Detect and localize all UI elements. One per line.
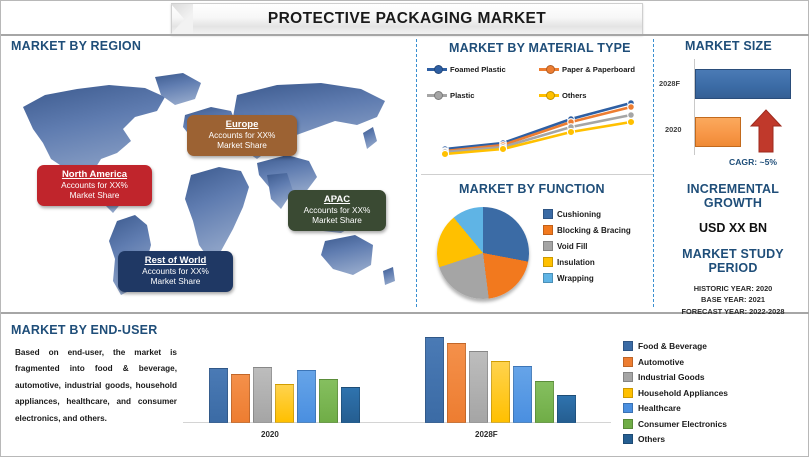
region-panel: MARKET BY REGION — [1, 33, 409, 311]
line-marker-icon — [427, 68, 447, 70]
swatch-icon — [623, 372, 633, 382]
legend-label: Paper & Paperboard — [562, 65, 635, 74]
swatch-icon — [623, 419, 633, 429]
material-type-panel: MARKET BY MATERIAL TYPE Foamed Plastic P… — [421, 33, 655, 175]
base-year: BASE YEAR: 2021 — [657, 294, 809, 305]
swatch-icon — [543, 225, 553, 235]
legend-label: Cushioning — [557, 210, 601, 219]
callout-line2: Market Share — [44, 191, 145, 201]
legend-item-cushioning[interactable]: Cushioning — [543, 209, 631, 219]
bar-2020-healthcare — [297, 370, 316, 423]
forecast-year: FORECAST YEAR: 2022-2028 — [657, 306, 809, 317]
infographic-page: PROTECTIVE PACKAGING MARKET MARKET BY RE… — [0, 0, 809, 457]
callout-line2: Market Share — [194, 141, 290, 151]
function-legend: Cushioning Blocking & Bracing Void Fill … — [543, 209, 631, 289]
end-user-legend: Food & Beverage Automotive Industrial Go… — [623, 341, 728, 450]
bar-2020-others — [341, 387, 360, 423]
bar-label-2020: 2020 — [665, 125, 681, 134]
swatch-icon — [623, 341, 633, 351]
legend-item-paper-paperboard[interactable]: Paper & Paperboard — [539, 65, 635, 74]
bar-2020-industrial-goods — [253, 367, 272, 423]
bar-2028f-consumer-electronics — [535, 381, 554, 423]
bar-label-2028f: 2028F — [659, 79, 680, 88]
callout-europe[interactable]: Europe Accounts for XX% Market Share — [187, 115, 297, 156]
legend-label: Void Fill — [557, 242, 588, 251]
x-axis-label-2028f: 2028F — [475, 430, 498, 439]
bar-2028f — [695, 69, 791, 99]
bar-2020-food-beverage — [209, 368, 228, 423]
page-title: PROTECTIVE PACKAGING MARKET — [268, 10, 546, 28]
callout-title: Europe — [194, 119, 290, 130]
legend-item-automotive[interactable]: Automotive — [623, 357, 728, 367]
bar-2020-consumer-electronics — [319, 379, 338, 423]
bar-2020 — [695, 117, 741, 147]
legend-item-household-appliances[interactable]: Household Appliances — [623, 388, 728, 398]
bar-2028f-healthcare — [513, 366, 532, 423]
legend-label: Food & Beverage — [638, 341, 707, 351]
title-banner: PROTECTIVE PACKAGING MARKET — [171, 3, 643, 35]
legend-label: Healthcare — [638, 403, 681, 413]
callout-apac[interactable]: APAC Accounts for XX% Market Share — [288, 190, 386, 231]
legend-item-others[interactable]: Others — [623, 434, 728, 444]
legend-label: Industrial Goods — [638, 372, 705, 382]
region-section-title: MARKET BY REGION — [11, 39, 141, 53]
market-size-title: MARKET SIZE — [685, 39, 772, 53]
incremental-growth-value: USD XX BN — [657, 221, 809, 235]
swatch-icon — [543, 257, 553, 267]
function-pie-chart — [437, 207, 533, 303]
swatch-icon — [623, 357, 633, 367]
bar-2028f-industrial-goods — [469, 351, 488, 423]
bar-2028f-food-beverage — [425, 337, 444, 423]
legend-item-void-fill[interactable]: Void Fill — [543, 241, 631, 251]
callout-title: North America — [44, 169, 145, 180]
callout-rest-of-world[interactable]: Rest of World Accounts for XX% Market Sh… — [118, 251, 233, 292]
swatch-icon — [543, 273, 553, 283]
legend-item-foamed-plastic[interactable]: Foamed Plastic — [427, 65, 506, 74]
function-section-title: MARKET BY FUNCTION — [459, 182, 605, 196]
end-user-section-title: MARKET BY END-USER — [11, 323, 157, 337]
callout-line2: Market Share — [125, 277, 226, 287]
swatch-icon — [543, 209, 553, 219]
swatch-icon — [623, 434, 633, 444]
callout-north-america[interactable]: North America Accounts for XX% Market Sh… — [37, 165, 152, 206]
x-axis-label-2020: 2020 — [261, 430, 279, 439]
bar-2028f-automotive — [447, 343, 466, 423]
incremental-growth-panel: INCREMENTAL GROWTH USD XX BN MARKET STUD… — [657, 177, 809, 311]
callout-title: Rest of World — [125, 255, 226, 266]
swatch-icon — [623, 388, 633, 398]
growth-arrow-icon — [749, 109, 783, 153]
bar-2028f-others — [557, 395, 576, 423]
legend-item-industrial-goods[interactable]: Industrial Goods — [623, 372, 728, 382]
legend-item-consumer-electronics[interactable]: Consumer Electronics — [623, 419, 728, 429]
end-user-panel: MARKET BY END-USER Based on end-user, th… — [1, 317, 809, 457]
legend-label: Household Appliances — [638, 388, 728, 398]
historic-year: HISTORIC YEAR: 2020 — [657, 283, 809, 294]
end-user-description: Based on end-user, the market is fragmen… — [15, 345, 177, 427]
legend-item-insulation[interactable]: Insulation — [543, 257, 631, 267]
market-size-chart: 2028F 2020 CAGR: ~5% — [657, 57, 809, 175]
incremental-growth-title: INCREMENTAL GROWTH — [657, 182, 809, 210]
legend-label: Wrapping — [557, 274, 594, 283]
end-user-bar-chart: 2020 2028F — [183, 337, 611, 441]
study-period-lines: HISTORIC YEAR: 2020 BASE YEAR: 2021 FORE… — [657, 283, 809, 317]
bar-2028f-household-appliances — [491, 361, 510, 423]
callout-line2: Market Share — [295, 216, 379, 226]
market-size-panel: MARKET SIZE 2028F 2020 CAGR: ~5% — [657, 33, 809, 175]
function-panel: MARKET BY FUNCTION Cushioning Blocking &… — [421, 177, 655, 311]
legend-item-food-beverage[interactable]: Food & Beverage — [623, 341, 728, 351]
legend-item-wrapping[interactable]: Wrapping — [543, 273, 631, 283]
legend-label: Consumer Electronics — [638, 419, 727, 429]
cagr-label: CAGR: ~5% — [729, 157, 777, 167]
bar-2020-household-appliances — [275, 384, 294, 423]
legend-label: Automotive — [638, 357, 684, 367]
line-marker-icon — [539, 68, 559, 70]
series-line-paper — [445, 107, 631, 151]
pie-slices — [437, 207, 529, 299]
legend-label: Foamed Plastic — [450, 65, 506, 74]
swatch-icon — [623, 403, 633, 413]
legend-item-blocking-bracing[interactable]: Blocking & Bracing — [543, 225, 631, 235]
legend-label: Others — [638, 434, 665, 444]
material-line-chart — [431, 91, 646, 169]
legend-label: Insulation — [557, 258, 595, 267]
study-period-title: MARKET STUDY PERIOD — [657, 247, 809, 275]
swatch-icon — [543, 241, 553, 251]
legend-item-healthcare[interactable]: Healthcare — [623, 403, 728, 413]
material-section-title: MARKET BY MATERIAL TYPE — [449, 41, 631, 55]
divider-vertical-left — [416, 39, 417, 307]
callout-title: APAC — [295, 194, 379, 205]
legend-label: Blocking & Bracing — [557, 226, 631, 235]
bar-2020-automotive — [231, 374, 250, 423]
